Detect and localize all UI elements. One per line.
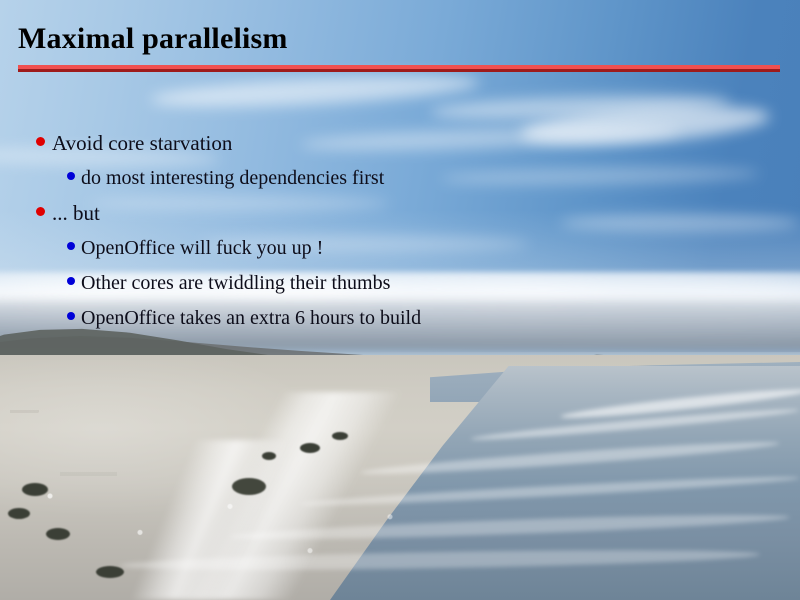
bullet-dot-red-icon [36,137,45,146]
title-divider-rule [18,65,780,72]
bullet-text: Other cores are twiddling their thumbs [81,266,390,301]
bullet-text: OpenOffice will fuck you up ! [81,231,323,266]
bullet-item-level-2: Other cores are twiddling their thumbs [0,266,800,301]
slide-content: Maximal parallelism Avoid core starvatio… [0,0,800,600]
bullet-dot-blue-icon [67,277,75,285]
bullet-item-level-1: Avoid core starvation [0,126,800,161]
presentation-slide: Maximal parallelism Avoid core starvatio… [0,0,800,600]
bullet-dot-blue-icon [67,172,75,180]
bullet-item-level-1: ... but [0,196,800,231]
bullet-item-level-2: OpenOffice takes an extra 6 hours to bui… [0,301,800,336]
bullet-item-level-2: do most interesting dependencies first [0,161,800,196]
bullet-dot-red-icon [36,207,45,216]
bullet-text: do most interesting dependencies first [81,161,384,196]
bullet-dot-blue-icon [67,312,75,320]
divider-line-dark [18,69,780,72]
bullet-list: Avoid core starvation do most interestin… [0,126,800,336]
bullet-item-level-2: OpenOffice will fuck you up ! [0,231,800,266]
bullet-text: OpenOffice takes an extra 6 hours to bui… [81,301,421,336]
bullet-text: Avoid core starvation [52,126,232,161]
bullet-text: ... but [52,196,100,231]
bullet-dot-blue-icon [67,242,75,250]
slide-title: Maximal parallelism [18,22,288,56]
